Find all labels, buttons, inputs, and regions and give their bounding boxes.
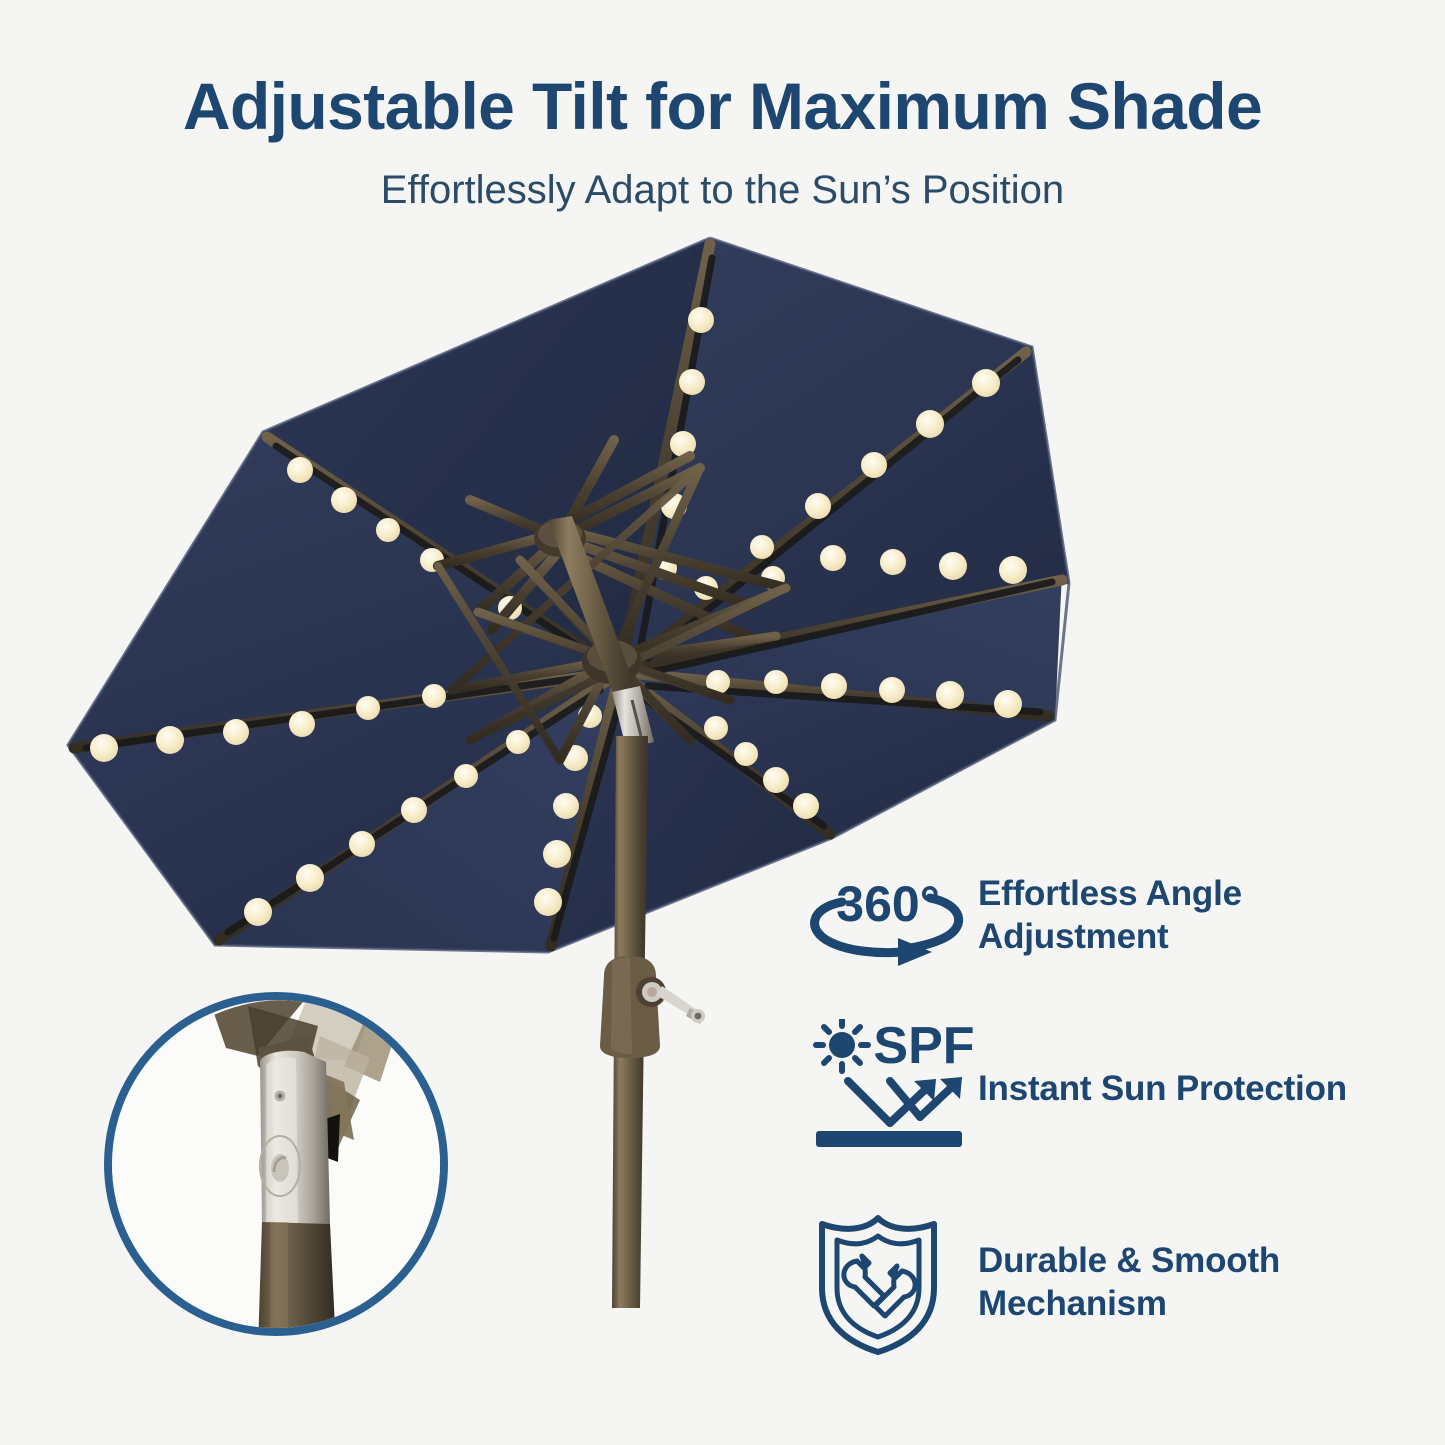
tilt-mechanism-closeup-art xyxy=(108,996,448,1336)
umbrella-canopy xyxy=(68,238,1069,952)
feature-label-line-2: Mechanism xyxy=(978,1283,1280,1326)
promo-canvas: Adjustable Tilt for Maximum Shade Effort… xyxy=(0,0,1445,1445)
feature-list: 360° Effortless Angle Adjustment xyxy=(800,862,1440,1402)
spf-label: SPF xyxy=(873,1019,974,1075)
feature-label-line-1: Instant Sun Protection xyxy=(978,1068,1347,1111)
feature-label-line-2: Adjustment xyxy=(978,916,1242,959)
feature-label-line-1: Effortless Angle xyxy=(978,873,1242,916)
feature-item-durable-mechanism: Durable & Smooth Mechanism xyxy=(800,1208,1440,1358)
shield-wrench-icon xyxy=(800,1210,978,1356)
feature-label-angle-adjustment: Effortless Angle Adjustment xyxy=(978,873,1242,958)
tilt-mechanism-detail-inset xyxy=(104,992,448,1336)
feature-label-line-1: Durable & Smooth xyxy=(978,1240,1280,1283)
surface-bar-icon xyxy=(816,1131,962,1147)
sun-disc-icon xyxy=(829,1032,855,1058)
feature-label-durable-mechanism: Durable & Smooth Mechanism xyxy=(978,1240,1280,1325)
rotation-360-label: 360° xyxy=(836,876,939,932)
feature-item-sun-protection: SPF Instant Sun Protection xyxy=(800,1014,1440,1164)
feature-label-sun-protection: Instant Sun Protection xyxy=(978,1068,1347,1111)
feature-item-angle-adjustment: 360° Effortless Angle Adjustment xyxy=(800,862,1440,970)
rotation-360-icon: 360° xyxy=(800,866,978,966)
spf-sun-protection-icon: SPF xyxy=(800,1019,978,1159)
wrench-icon-1 xyxy=(843,1256,883,1306)
